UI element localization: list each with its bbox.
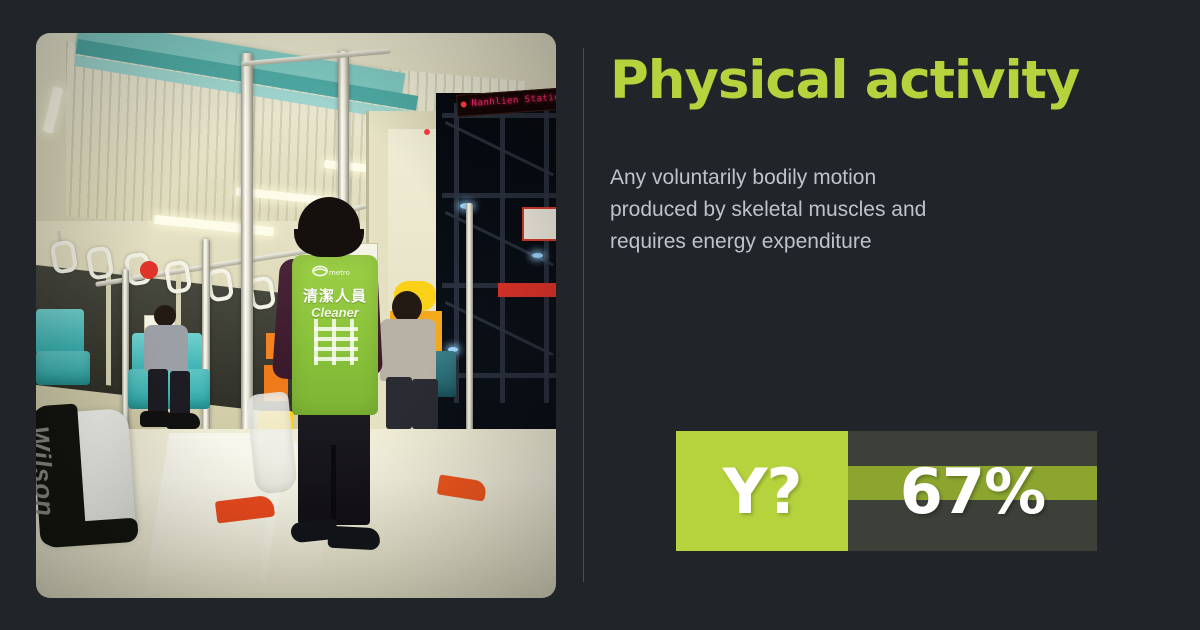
wilson-bag: Wilson [36, 408, 136, 542]
train-photo: Nanhlien Station [36, 33, 556, 598]
seat-cushion-far [36, 351, 90, 385]
description-line-1: Any voluntarily bodily motion [610, 162, 1050, 194]
vest-reflective-stripe-vertical [314, 319, 318, 365]
stat-key-panel: Y? [676, 431, 848, 551]
description-line-3: requires energy expenditure [610, 226, 1050, 258]
passenger-leg-2 [170, 371, 190, 417]
social-card: Nanhlien Station [0, 0, 1200, 630]
vest-chinese-label: 清潔人員 [298, 285, 372, 306]
seat-row-far [36, 309, 84, 355]
stat-badge: 67% Y? [676, 431, 1097, 551]
passenger-leg-3 [386, 377, 412, 429]
passenger-shoe-2 [166, 413, 200, 429]
passenger-leg-4 [412, 379, 438, 429]
passenger-head-1 [154, 305, 176, 327]
stat-value-panel: 67% [848, 431, 1097, 551]
led-sign-text: Nanhlien Station [471, 91, 556, 110]
cleaner-shoe-right [327, 526, 380, 551]
page-title: Physical activity [610, 50, 1170, 112]
indicator-light [424, 129, 430, 135]
svg-text:metro: metro [329, 269, 350, 277]
cleaner-hair-lower [294, 229, 364, 255]
vest-reflective-stripe-vertical [350, 319, 354, 365]
vest-english-label: Cleaner [298, 305, 372, 320]
passenger-body-1 [144, 325, 188, 371]
vest-reflective-stripe-vertical [332, 319, 336, 365]
metro-logo-icon: metro [312, 265, 352, 279]
passenger-body-2 [380, 319, 436, 381]
led-indicator-dot [460, 101, 466, 107]
description-block: Any voluntarily bodily motion produced b… [610, 162, 1050, 258]
stat-percent-label: 67% [848, 431, 1097, 551]
cleaner-vest: metro 清潔人員 Cleaner [292, 255, 378, 415]
description-line-2: produced by skeletal muscles and [610, 194, 1050, 226]
vertical-divider [583, 48, 584, 582]
red-dot-sticker [140, 261, 158, 279]
stat-key-label: Y? [676, 431, 848, 551]
seat-cushion-mid [128, 369, 210, 409]
passenger-leg-1 [148, 369, 168, 417]
cleaner-leg-gap [331, 445, 336, 527]
